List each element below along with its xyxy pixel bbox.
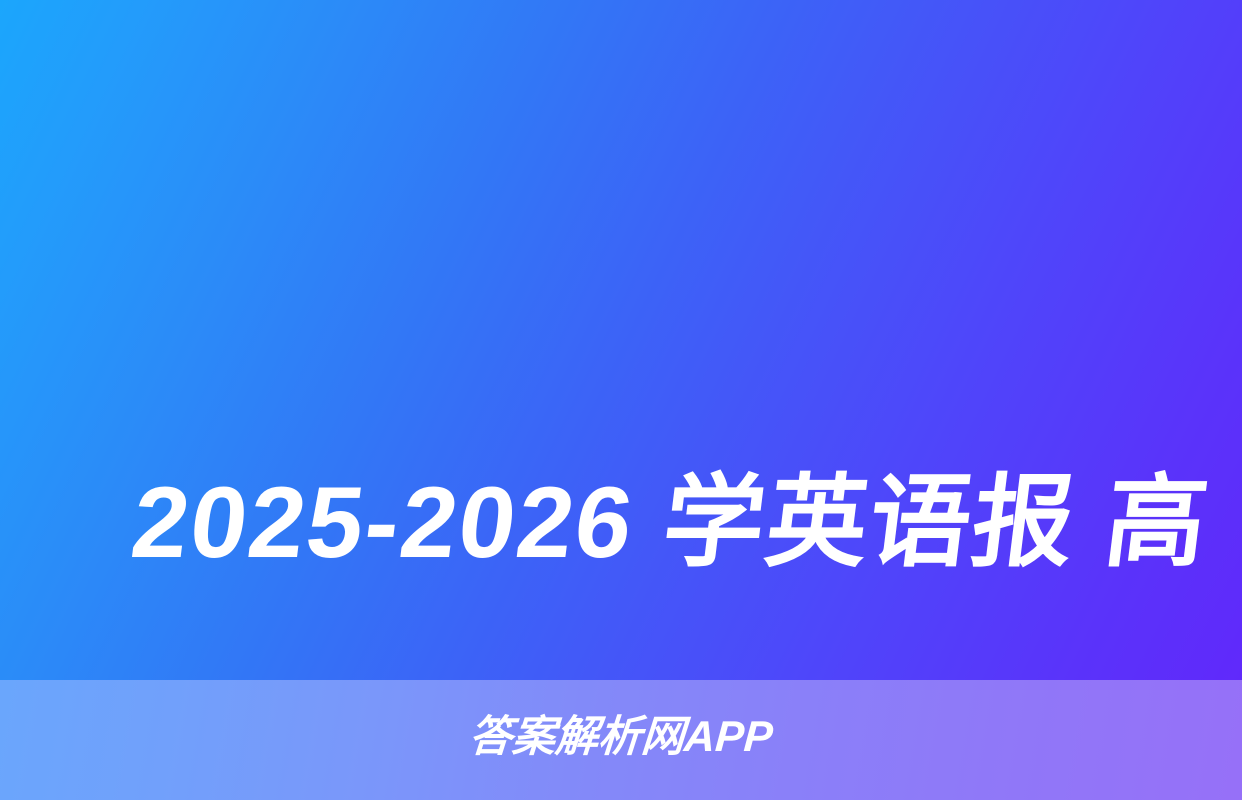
app-watermark: 答案解析网APP xyxy=(0,710,1242,764)
banner-title: 2025-2026 学英语报 高 二 新课程课标基础 第5 期答案 xyxy=(0,186,1242,800)
answer-banner: 2025-2026 学英语报 高 二 新课程课标基础 第5 期答案 答案解析网A… xyxy=(0,0,1242,800)
banner-title-line-1: 2025-2026 学英语报 高 xyxy=(41,456,1242,591)
